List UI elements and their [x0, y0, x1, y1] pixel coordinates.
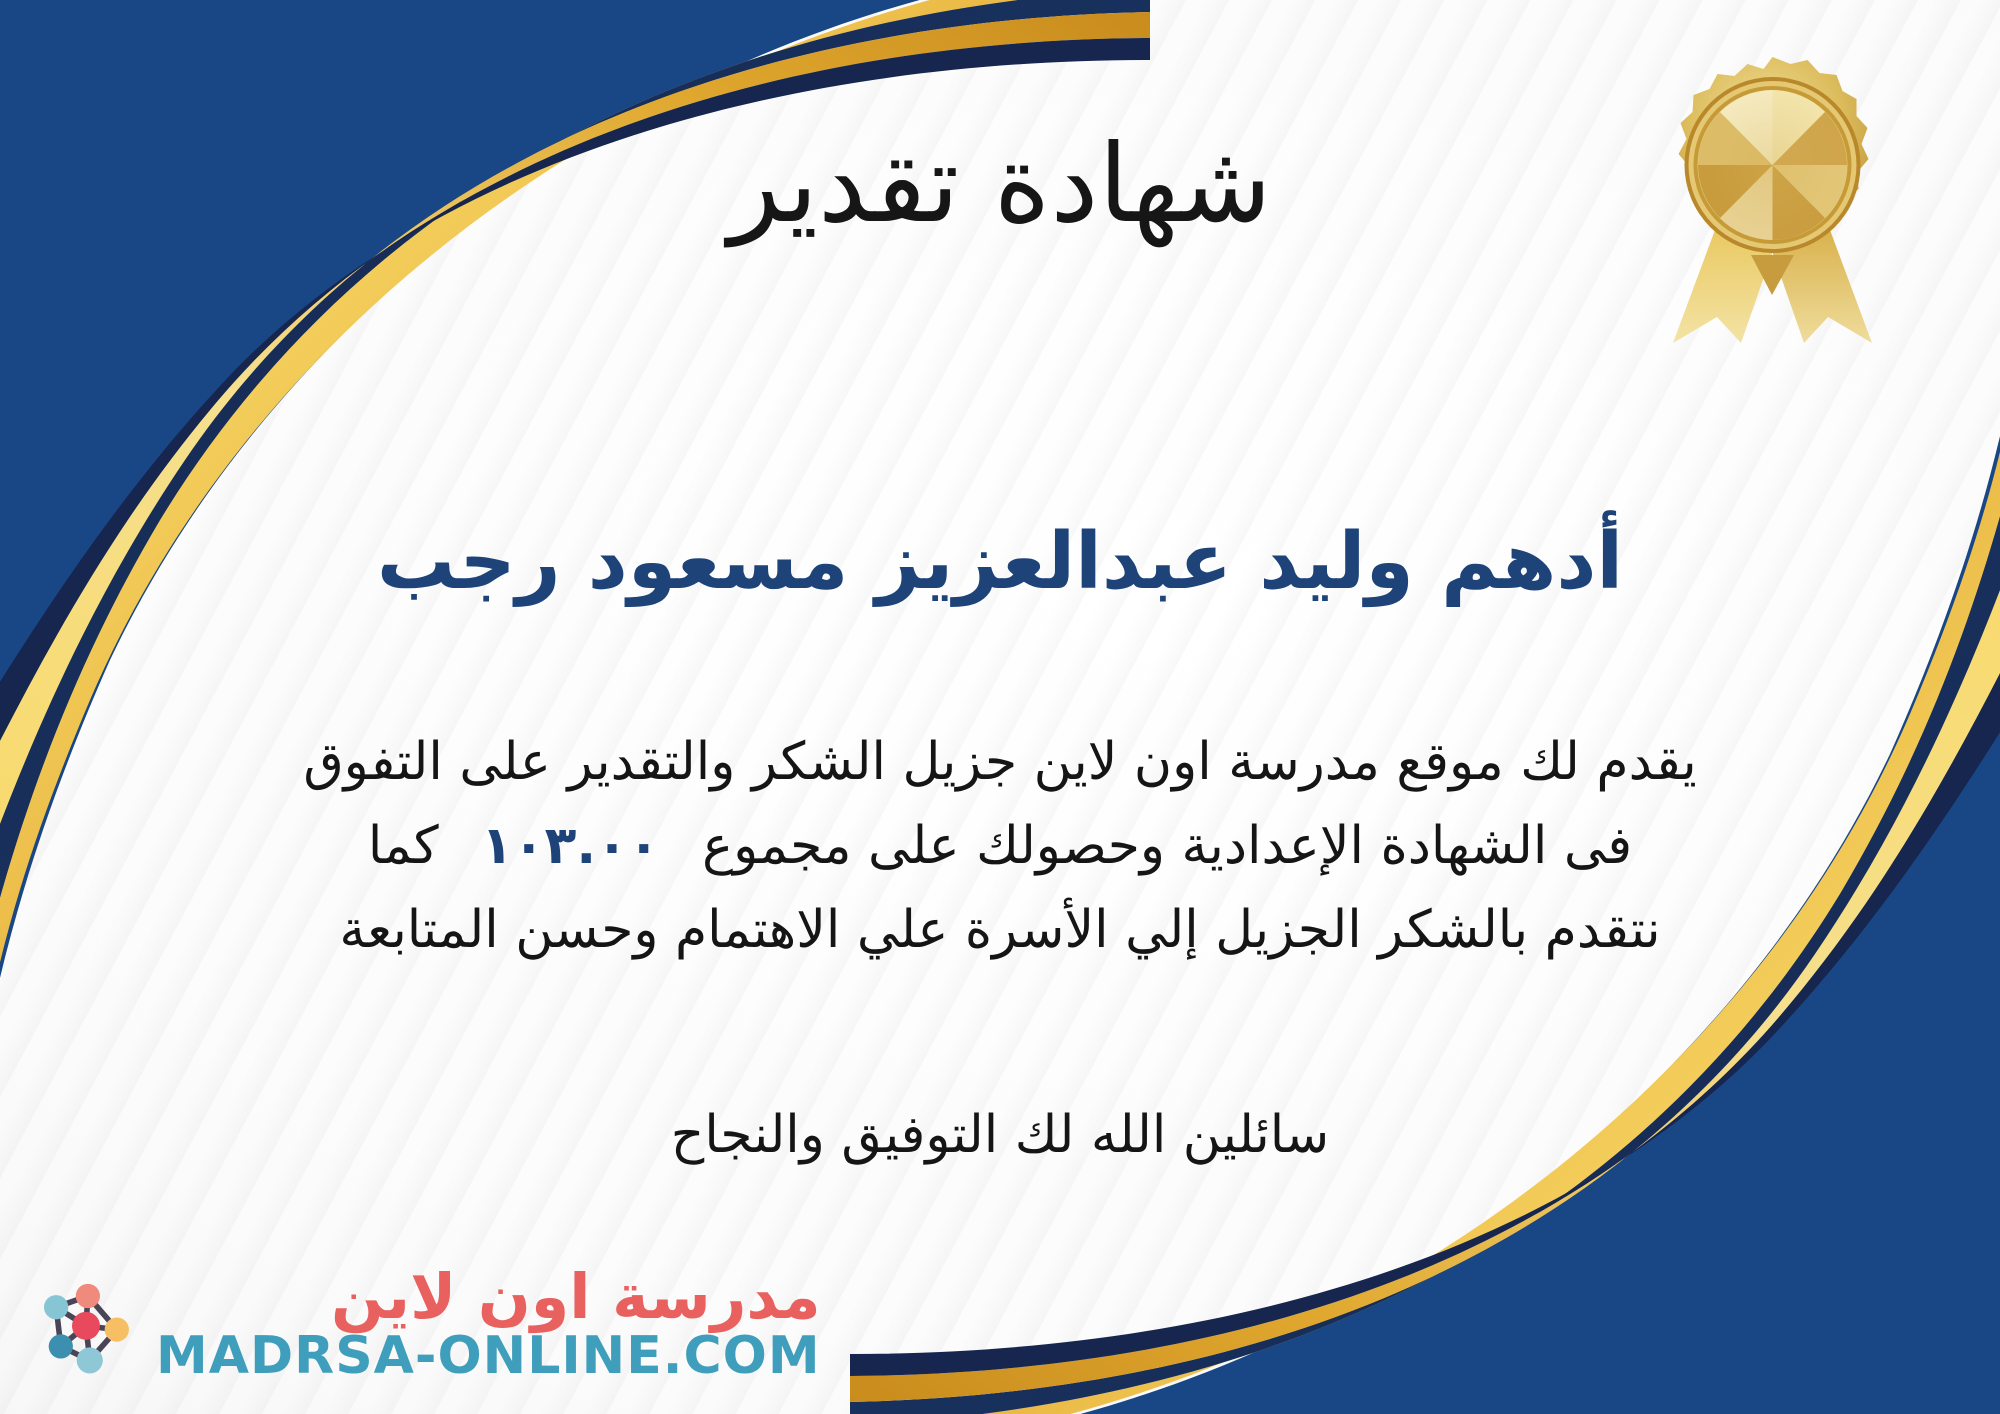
certificate-canvas: شهادة تقدير أدهم وليد عبدالعزيز مسعود رج… [0, 0, 2000, 1414]
logo-domain: MADRSA-ONLINE.COM [156, 1329, 821, 1384]
body-line-2-prefix: فى الشهادة الإعدادية وحصولك على مجموع [702, 816, 1632, 876]
grade-value: ١٠٣.٠٠ [455, 816, 685, 876]
recipient-name: أدهم وليد عبدالعزيز مسعود رجب [0, 520, 2000, 606]
certificate-body: يقدم لك موقع مدرسة اون لاين جزيل الشكر و… [70, 720, 1930, 973]
closing-wish: سائلين الله لك التوفيق والنجاح [0, 1105, 2000, 1165]
body-line-2: فى الشهادة الإعدادية وحصولك على مجموع ١٠… [70, 804, 1930, 888]
body-line-3: نتقدم بالشكر الجزيل إلي الأسرة علي الاهت… [70, 888, 1930, 972]
body-line-1: يقدم لك موقع مدرسة اون لاين جزيل الشكر و… [70, 720, 1930, 804]
body-line-2-suffix: كما [368, 816, 439, 876]
page-title: شهادة تقدير [0, 128, 2000, 241]
logo-text-group: مدرسة اون لاين MADRSA-ONLINE.COM [156, 1264, 821, 1384]
certificate-content: شهادة تقدير أدهم وليد عبدالعزيز مسعود رج… [0, 0, 2000, 1414]
site-logo[interactable]: مدرسة اون لاين MADRSA-ONLINE.COM [30, 1264, 821, 1384]
logo-arabic-name: مدرسة اون لاين [331, 1264, 821, 1330]
network-nodes-icon [30, 1268, 142, 1380]
